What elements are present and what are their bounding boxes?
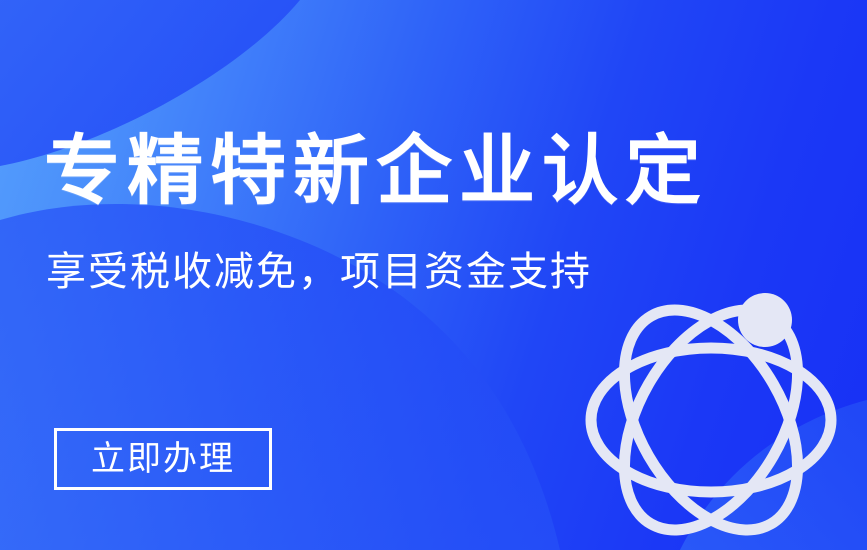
atom-icon [580, 282, 850, 540]
page-title: 专精特新企业认定 [44, 133, 708, 209]
banner-content: 专精特新企业认定 享受税收减免，项目资金支持 立即办理 [0, 0, 867, 550]
electron-dot-icon [738, 293, 792, 347]
banner-subtitle: 享受税收减免，项目资金支持 [46, 252, 592, 292]
apply-now-button[interactable]: 立即办理 [54, 428, 272, 490]
promo-banner: 专精特新企业认定 享受税收减免，项目资金支持 立即办理 [0, 0, 867, 550]
